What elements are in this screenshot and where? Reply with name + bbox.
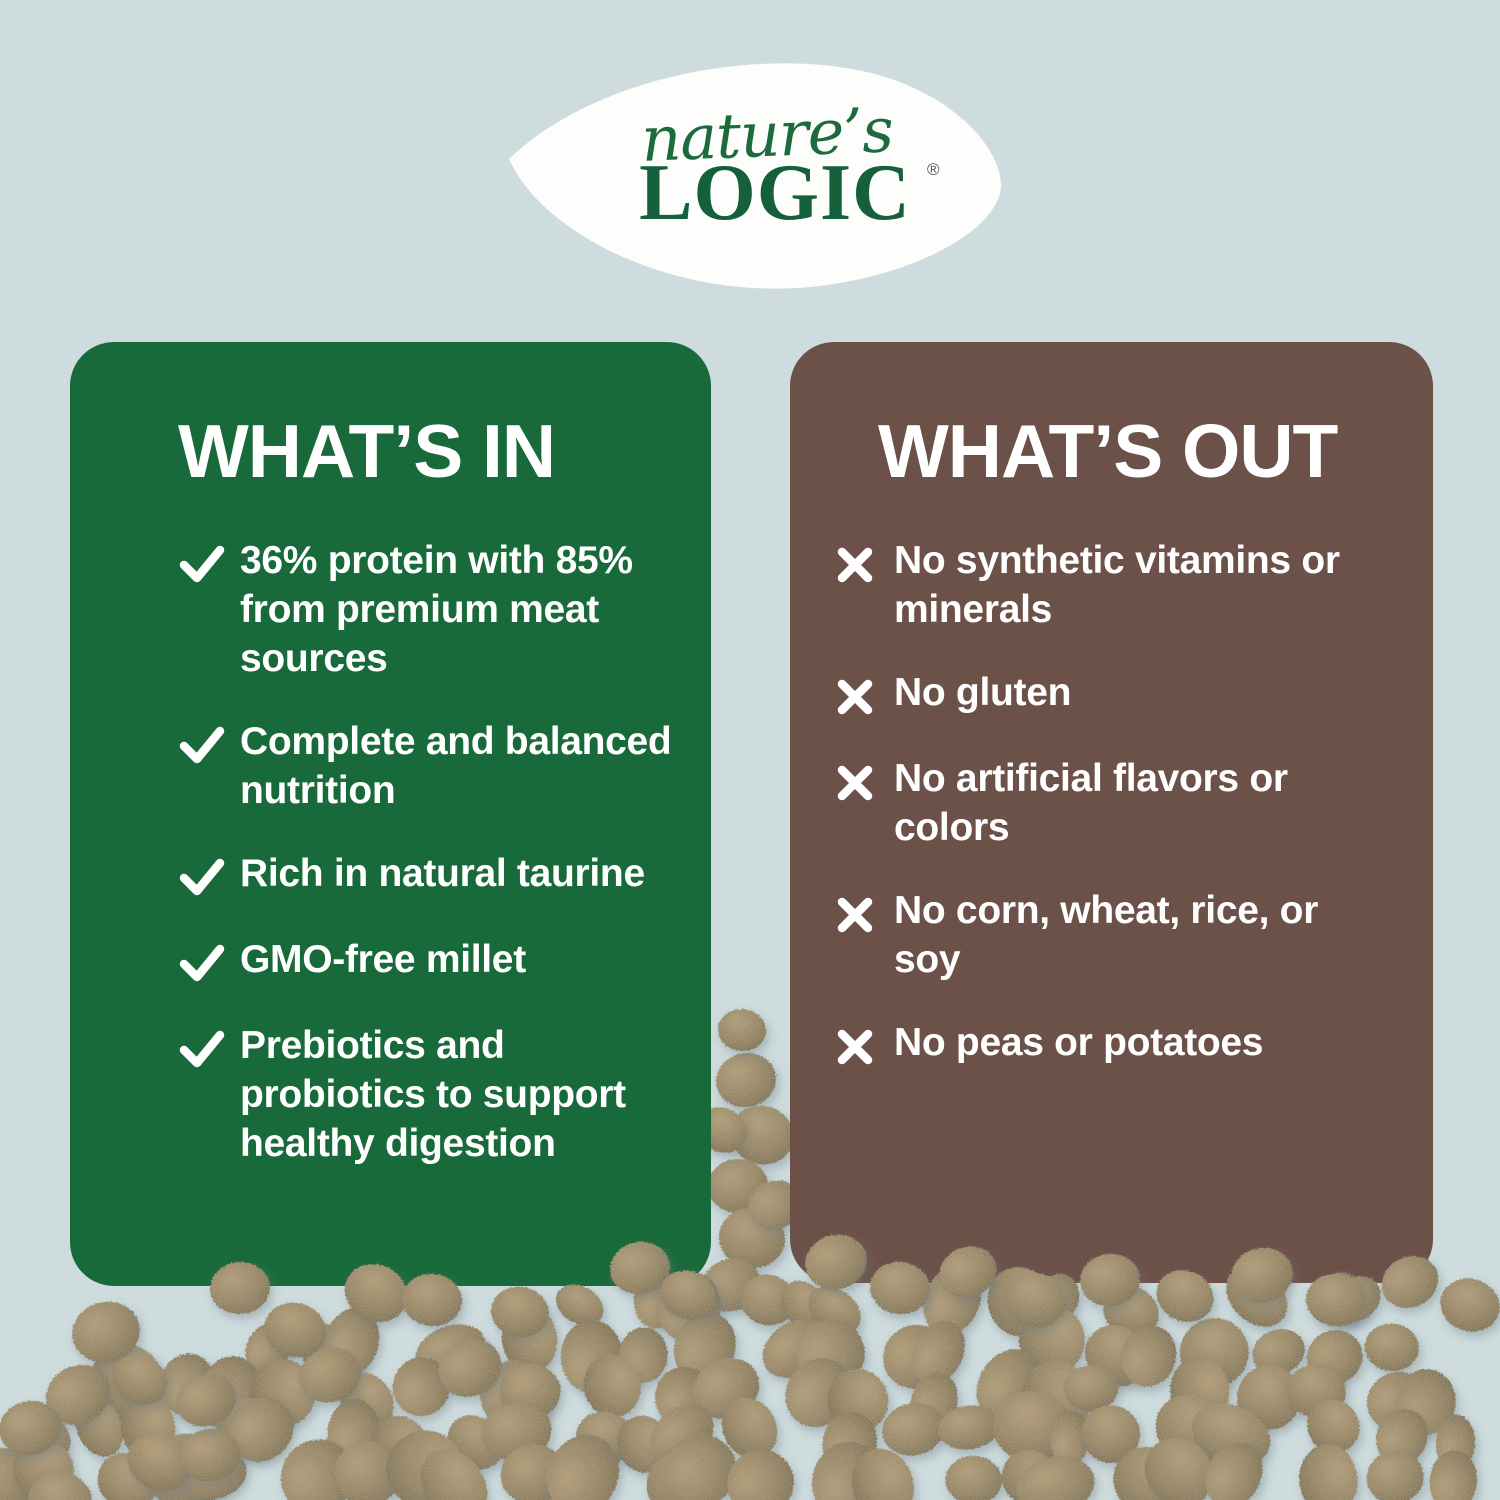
list-item-label: No artificial flavors or colors [894,754,1394,852]
list-item-label: No peas or potatoes [894,1018,1263,1067]
list-item: Prebiotics and probiotics to support hea… [178,1021,681,1168]
registered-trademark-icon: ® [927,160,940,180]
check-icon [178,851,226,903]
whats-in-list: 36% protein with 85% from premium meat s… [178,536,681,1168]
list-item-label: Complete and balanced nutrition [240,717,681,815]
x-icon [832,756,880,808]
panel-whats-out: WHAT’S OUT No synthetic vitamins or mine… [790,342,1433,1283]
list-item: GMO-free millet [178,935,681,987]
product-infographic: nature’s LOGIC ® WHAT’S IN 36% protein w… [0,0,1500,1500]
panel-out-heading: WHAT’S OUT [878,412,1403,490]
list-item: No gluten [832,668,1403,720]
list-item: 36% protein with 85% from premium meat s… [178,536,681,683]
brand-logo: nature’s LOGIC ® [497,57,1003,289]
logo-wordmark: LOGIC [610,153,940,233]
list-item-label: Prebiotics and probiotics to support hea… [240,1021,681,1168]
list-item-label: No gluten [894,668,1071,717]
x-icon [832,670,880,722]
x-icon [832,538,880,590]
list-item-label: 36% protein with 85% from premium meat s… [240,536,681,683]
whats-out-list: No synthetic vitamins or minerals No glu… [832,536,1403,1070]
list-item: No peas or potatoes [832,1018,1403,1070]
list-item: No artificial flavors or colors [832,754,1403,852]
list-item-label: GMO-free millet [240,935,526,984]
x-icon [832,888,880,940]
list-item-label: Rich in natural taurine [240,849,645,898]
list-item-label: No synthetic vitamins or minerals [894,536,1394,634]
check-icon [178,538,226,590]
list-item: No synthetic vitamins or minerals [832,536,1403,634]
panel-in-heading: WHAT’S IN [178,412,681,490]
x-icon [832,1020,880,1072]
check-icon [178,719,226,771]
list-item-label: No corn, wheat, rice, or soy [894,886,1394,984]
list-item: Rich in natural taurine [178,849,681,901]
list-item: No corn, wheat, rice, or soy [832,886,1403,984]
check-icon [178,1023,226,1075]
panel-whats-in: WHAT’S IN 36% protein with 85% from prem… [70,342,711,1286]
list-item: Complete and balanced nutrition [178,717,681,815]
check-icon [178,937,226,989]
